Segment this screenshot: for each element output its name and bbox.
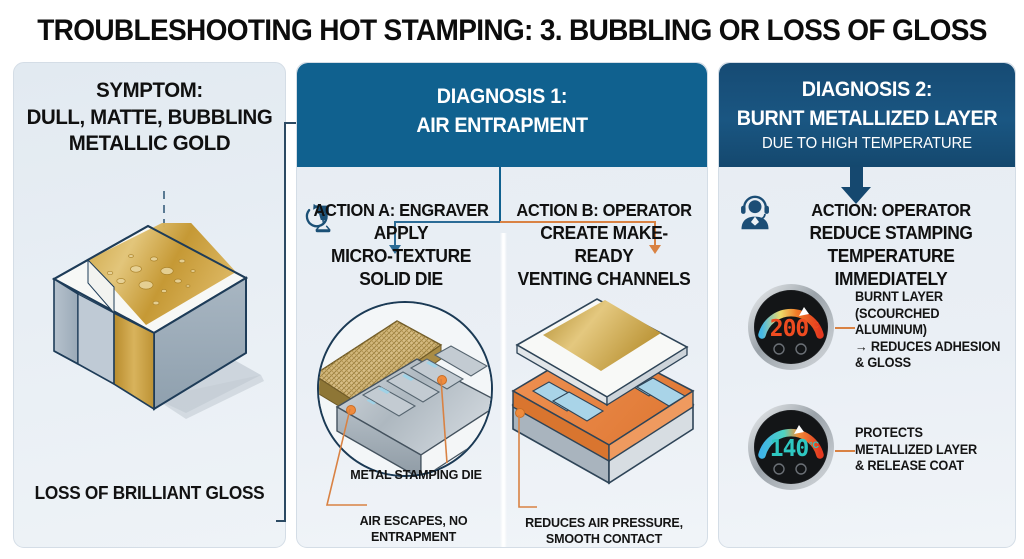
page-title: TROUBLESHOOTING HOT STAMPING: 3. BUBBLIN… [26, 14, 999, 48]
gauge1-callout-line4: & GLOSS [855, 355, 1012, 372]
gauge1-callout-line3: → REDUCES ADHESION [855, 339, 1012, 356]
action-right-text: ACTION: OPERATOR REDUCE STAMPING TEMPERA… [771, 199, 1011, 290]
diagnosis2-header: DIAGNOSIS 2: BURNT METALLIZED LAYER DUE … [719, 63, 1015, 167]
callout-metal-stamping-die: METAL STAMPING DIE [345, 467, 488, 483]
gauge2-callout-line1: PROTECTS [855, 425, 1007, 442]
action-a-line3: SOLID DIE [307, 267, 495, 290]
symptom-heading-line1: SYMPTOM: [21, 77, 278, 104]
arrow-down-stem [850, 167, 863, 189]
symptom-heading-line2: DULL, MATTE, BUBBLING [21, 104, 278, 131]
symptom-caption: LOSS OF BRILLIANT GLOSS [23, 482, 275, 504]
gauge1-leader [835, 327, 855, 329]
diagnosis2-header-line1: DIAGNOSIS 2: [728, 75, 1006, 104]
callout-air-escapes: AIR ESCAPES, NO ENTRAPMENT [335, 513, 492, 544]
gauge1-callout-line1: BURNT LAYER [855, 289, 1012, 306]
svg-text:°C: °C [809, 440, 820, 450]
action-a-line1: APPLY [307, 221, 495, 244]
symptom-panel: SYMPTOM: DULL, MATTE, BUBBLING METALLIC … [13, 62, 286, 548]
panel-connector-vertical [284, 122, 286, 522]
infographic-canvas: TROUBLESHOOTING HOT STAMPING: 3. BUBBLIN… [0, 0, 1024, 559]
gauge2-callout-line2: METALLIZED LAYER [855, 442, 1007, 459]
gauge-high-temperature: 200 °C [747, 283, 835, 371]
gauge2-callout-line3: & RELEASE COAT [855, 458, 1007, 475]
diagnosis2-header-line2: BURNT METALLIZED LAYER [728, 104, 1006, 133]
diagnosis1-header-line1: DIAGNOSIS 1: [309, 82, 694, 111]
operator-headset-icon [737, 195, 773, 231]
gold-box-illustration [36, 223, 276, 473]
diagnosis1-header: DIAGNOSIS 1: AIR ENTRAPMENT [297, 63, 707, 167]
action-a-text: ACTION A: ENGRAVER APPLY MICRO-TEXTURE S… [301, 199, 501, 290]
svg-text:200: 200 [770, 316, 809, 342]
action-b-line2: VENTING CHANNELS [511, 267, 697, 290]
gauge-safe-temperature: 140 °C [747, 403, 835, 491]
action-a-title: ACTION A: ENGRAVER [307, 199, 495, 221]
diagnosis1-header-line2: AIR ENTRAPMENT [309, 111, 694, 140]
callout-reduces-air-pressure: REDUCES AIR PRESSURE, SMOOTH CONTACT [514, 515, 695, 546]
callout-leader-action-b [503, 411, 563, 521]
svg-text:°C: °C [809, 320, 820, 330]
diagnosis1-panel: DIAGNOSIS 1: AIR ENTRAPMENT ACTION A: EN… [296, 62, 708, 548]
action-b-text: ACTION B: OPERATOR CREATE MAKE-READY VEN… [505, 199, 703, 290]
symptom-heading-line3: METALLIC GOLD [21, 130, 278, 157]
svg-text:140: 140 [770, 436, 809, 462]
action-right-line1: REDUCE STAMPING [778, 221, 1004, 244]
symptom-heading: SYMPTOM: DULL, MATTE, BUBBLING METALLIC … [14, 77, 285, 157]
diagnosis2-panel: DIAGNOSIS 2: BURNT METALLIZED LAYER DUE … [718, 62, 1016, 548]
action-a-line2: MICRO-TEXTURE [307, 244, 495, 267]
panel-connector-bottom [276, 520, 286, 522]
action-right-title: ACTION: OPERATOR [778, 199, 1004, 221]
gauge2-leader [835, 450, 855, 452]
diagnosis2-header-sub: DUE TO HIGH TEMPERATURE [725, 133, 1009, 154]
gauge1-callout-line2: (SCOURCHED ALUMINUM) [855, 306, 1012, 339]
gauge1-callout: BURNT LAYER (SCOURCHED ALUMINUM) → REDUC… [855, 289, 1012, 372]
action-b-line1: CREATE MAKE-READY [511, 221, 697, 267]
gauge2-callout: PROTECTS METALLIZED LAYER & RELEASE COAT [855, 425, 1007, 475]
action-b-title: ACTION B: OPERATOR [511, 199, 697, 221]
